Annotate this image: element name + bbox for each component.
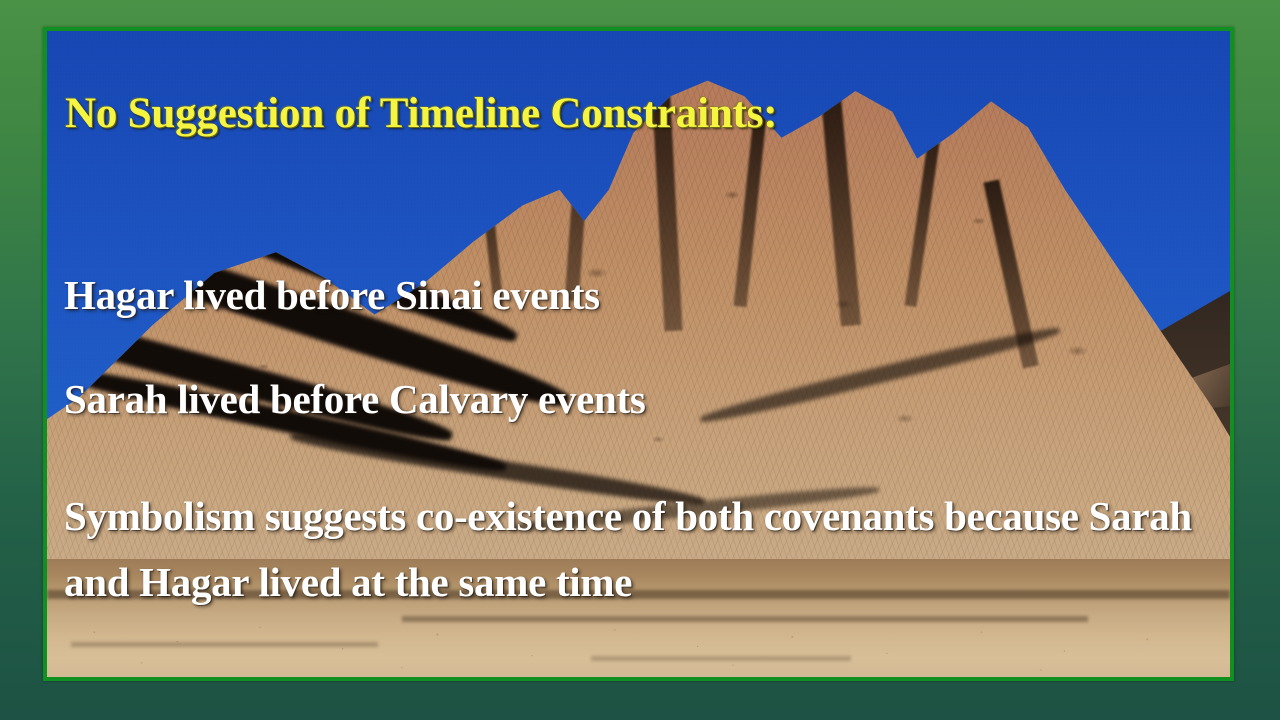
page-title: No Suggestion of Timeline Constraints:: [65, 89, 777, 138]
bullet-line-1: Hagar lived before Sinai events: [64, 271, 600, 319]
summary-paragraph: Symbolism suggests co-existence of both …: [64, 483, 1214, 615]
background-photograph: No Suggestion of Timeline Constraints: H…: [47, 31, 1230, 677]
presentation-slide: No Suggestion of Timeline Constraints: H…: [0, 0, 1280, 720]
slide-text-layer: No Suggestion of Timeline Constraints: H…: [47, 31, 1230, 677]
bullet-line-2: Sarah lived before Calvary events: [64, 375, 646, 423]
